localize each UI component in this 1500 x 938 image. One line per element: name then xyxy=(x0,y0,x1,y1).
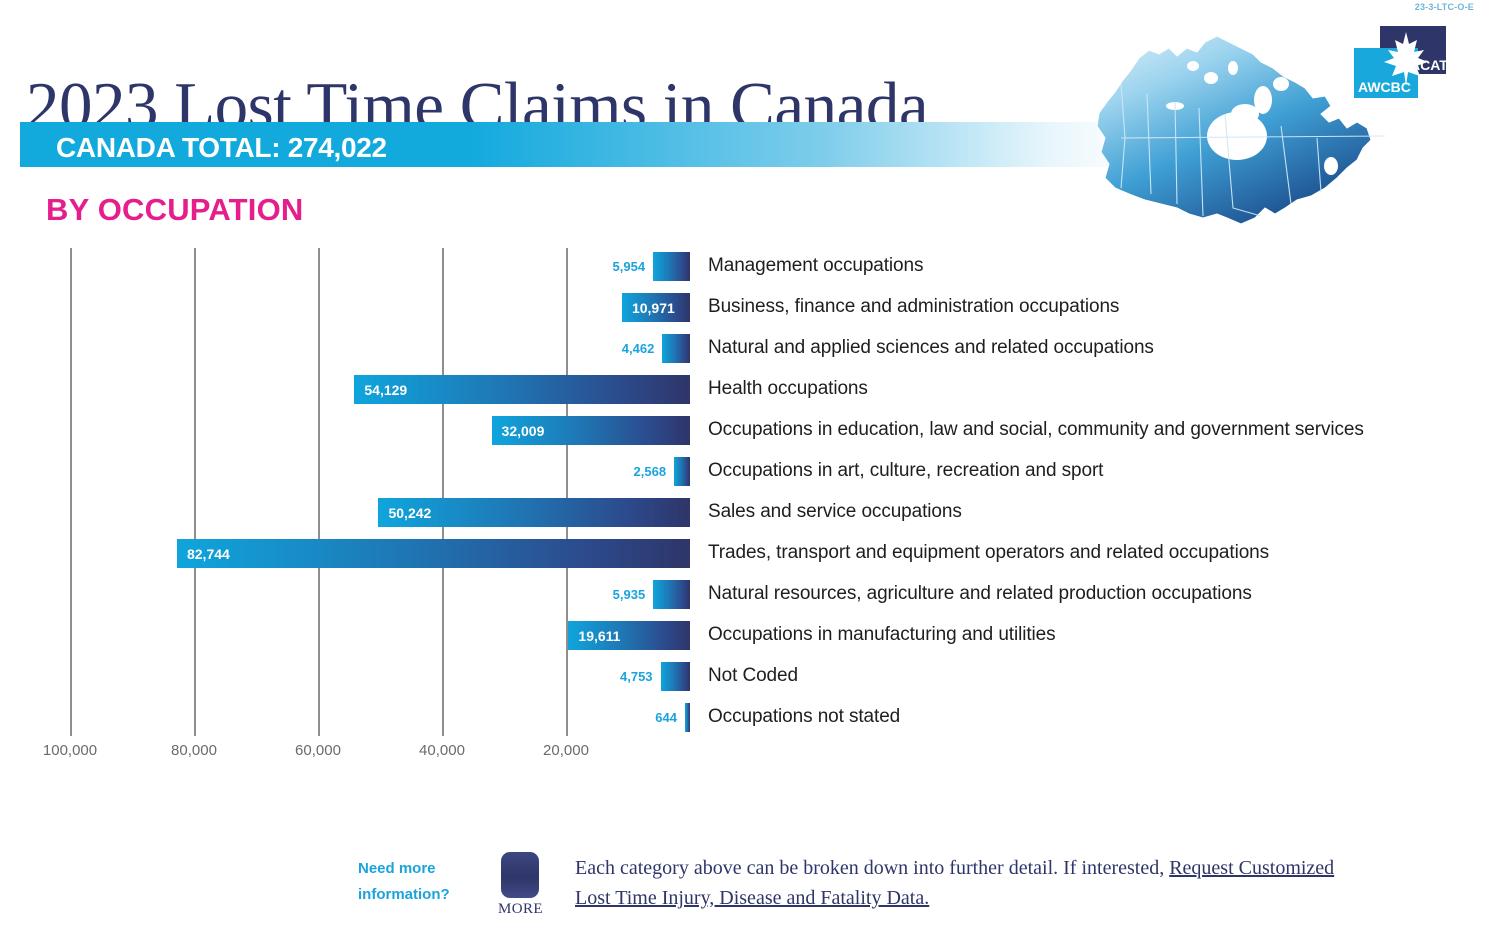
bar-row: 2,568Occupations in art, culture, recrea… xyxy=(0,453,1500,494)
category-label: Business, finance and administration occ… xyxy=(708,296,1119,318)
bar-value-label: 54,129 xyxy=(364,382,407,398)
need-more-line2: information? xyxy=(358,886,450,903)
category-label: Natural resources, agriculture and relat… xyxy=(708,583,1252,605)
bar xyxy=(661,662,690,691)
bar-row: 50,242Sales and service occupations xyxy=(0,494,1500,535)
svg-text:AWCBC: AWCBC xyxy=(1358,79,1411,95)
more-icon[interactable] xyxy=(501,852,539,898)
more-icon-label: MORE xyxy=(498,901,542,918)
awcbc-acatc-logo: AWCBC ACATC xyxy=(1354,26,1472,98)
more-button[interactable]: MORE xyxy=(498,852,542,918)
category-label: Trades, transport and equipment operator… xyxy=(708,542,1269,564)
category-label: Natural and applied sciences and related… xyxy=(708,337,1154,359)
footer-note: Each category above can be broken down i… xyxy=(575,853,1335,913)
footer: Need more information? MORE Each categor… xyxy=(0,848,1500,938)
category-label: Sales and service occupations xyxy=(708,501,962,523)
bar-value-label: 5,954 xyxy=(613,259,646,274)
axis-tick-label: 20,000 xyxy=(543,742,589,759)
bar-row: 5,954Management occupations xyxy=(0,248,1500,289)
bar-row: 32,009Occupations in education, law and … xyxy=(0,412,1500,453)
axis-tick-label: 40,000 xyxy=(419,742,465,759)
category-label: Management occupations xyxy=(708,255,923,277)
document-code: 23-3-LTC-O-E xyxy=(1415,2,1474,12)
bar-value-label: 82,744 xyxy=(187,546,230,562)
bar-value-label: 4,462 xyxy=(622,341,655,356)
category-label: Health occupations xyxy=(708,378,868,400)
category-label: Occupations in art, culture, recreation … xyxy=(708,460,1103,482)
bar xyxy=(653,580,690,609)
bar-value-label: 50,242 xyxy=(388,505,431,521)
category-label: Occupations not stated xyxy=(708,706,900,728)
axis-tick-label: 80,000 xyxy=(171,742,217,759)
category-label: Occupations in manufacturing and utiliti… xyxy=(708,624,1056,646)
axis-tick-label: 100,000 xyxy=(43,742,97,759)
bar-row: 5,935Natural resources, agriculture and … xyxy=(0,576,1500,617)
need-more-info-label: Need more information? xyxy=(358,856,478,908)
canada-total-band: CANADA TOTAL: 274,022 xyxy=(20,122,1140,167)
bar-value-label: 5,935 xyxy=(613,587,646,602)
bar xyxy=(685,703,690,732)
bar-row: 644Occupations not stated xyxy=(0,699,1500,740)
bar-row: 19,611Occupations in manufacturing and u… xyxy=(0,617,1500,658)
need-more-line1: Need more xyxy=(358,860,436,877)
bar-value-label: 19,611 xyxy=(578,628,620,644)
bar xyxy=(653,252,690,281)
bar-row: 82,744Trades, transport and equipment op… xyxy=(0,535,1500,576)
category-label: Not Coded xyxy=(708,665,798,687)
bar-value-label: 2,568 xyxy=(634,464,667,479)
bar xyxy=(674,457,690,486)
bar-value-label: 4,753 xyxy=(620,669,653,684)
category-label: Occupations in education, law and social… xyxy=(708,419,1364,441)
occupation-bar-chart: 100,00080,00060,00040,00020,0005,954Mana… xyxy=(0,248,1500,738)
bar xyxy=(177,539,690,568)
bar xyxy=(662,334,690,363)
canada-map-graphic xyxy=(1085,18,1395,243)
bar-row: 4,462Natural and applied sciences and re… xyxy=(0,330,1500,371)
svg-text:ACATC: ACATC xyxy=(1410,57,1458,73)
axis-tick-label: 60,000 xyxy=(295,742,341,759)
bar-value-label: 10,971 xyxy=(632,300,675,316)
bar-value-label: 644 xyxy=(655,710,677,725)
bar-row: 4,753Not Coded xyxy=(0,658,1500,699)
section-title: BY OCCUPATION xyxy=(46,192,304,228)
bar-value-label: 32,009 xyxy=(502,423,545,439)
canada-total-text: CANADA TOTAL: 274,022 xyxy=(56,132,387,164)
footer-note-text: Each category above can be broken down i… xyxy=(575,857,1164,879)
bar-row: 54,129Health occupations xyxy=(0,371,1500,412)
bar-row: 10,971Business, finance and administrati… xyxy=(0,289,1500,330)
